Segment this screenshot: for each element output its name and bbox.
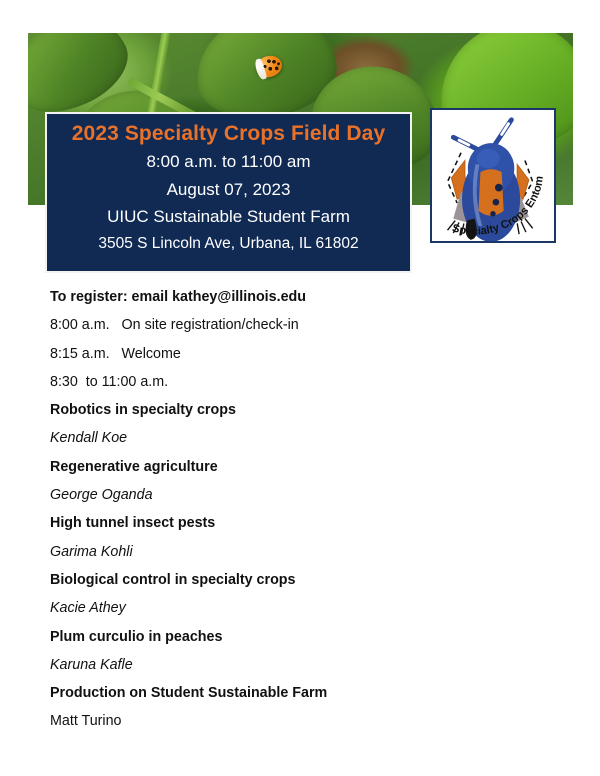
schedule-line: 8:00 a.m. On site registration/check-in [50, 311, 550, 339]
register-line: To register: email kathey@illinois.edu [50, 283, 550, 311]
beetle-icon: Specialty Crops Entomology Lab [432, 110, 554, 241]
talk-title: High tunnel insect pests [50, 509, 550, 537]
talk-speaker: Matt Turino [50, 707, 550, 735]
talk-speaker: George Oganda [50, 481, 550, 509]
talk-title: Production on Student Sustainable Farm [50, 679, 550, 707]
talk-title: Regenerative agriculture [50, 453, 550, 481]
talk-title: Biological control in specialty crops [50, 566, 550, 594]
talk-speaker: Kendall Koe [50, 424, 550, 452]
program-list: To register: email kathey@illinois.edu 8… [50, 283, 550, 736]
talk-speaker: Kacie Athey [50, 594, 550, 622]
banner-venue: UIUC Sustainable Student Farm [47, 203, 410, 231]
banner-date: August 07, 2023 [47, 176, 410, 204]
talk-speaker: Garima Kohli [50, 538, 550, 566]
logo-box: Specialty Crops Entomology Lab [430, 108, 556, 243]
talk-title: Plum curculio in peaches [50, 623, 550, 651]
schedule-line: 8:15 a.m. Welcome [50, 340, 550, 368]
banner-title: 2023 Specialty Crops Field Day [47, 120, 410, 148]
banner-address: 3505 S Lincoln Ave, Urbana, IL 61802 [47, 231, 410, 256]
talk-title: Robotics in specialty crops [50, 396, 550, 424]
banner-time: 8:00 a.m. to 11:00 am [47, 148, 410, 176]
talk-speaker: Karuna Kafle [50, 651, 550, 679]
event-banner: 2023 Specialty Crops Field Day 8:00 a.m.… [45, 112, 412, 273]
schedule-line: 8:30 to 11:00 a.m. [50, 368, 550, 396]
